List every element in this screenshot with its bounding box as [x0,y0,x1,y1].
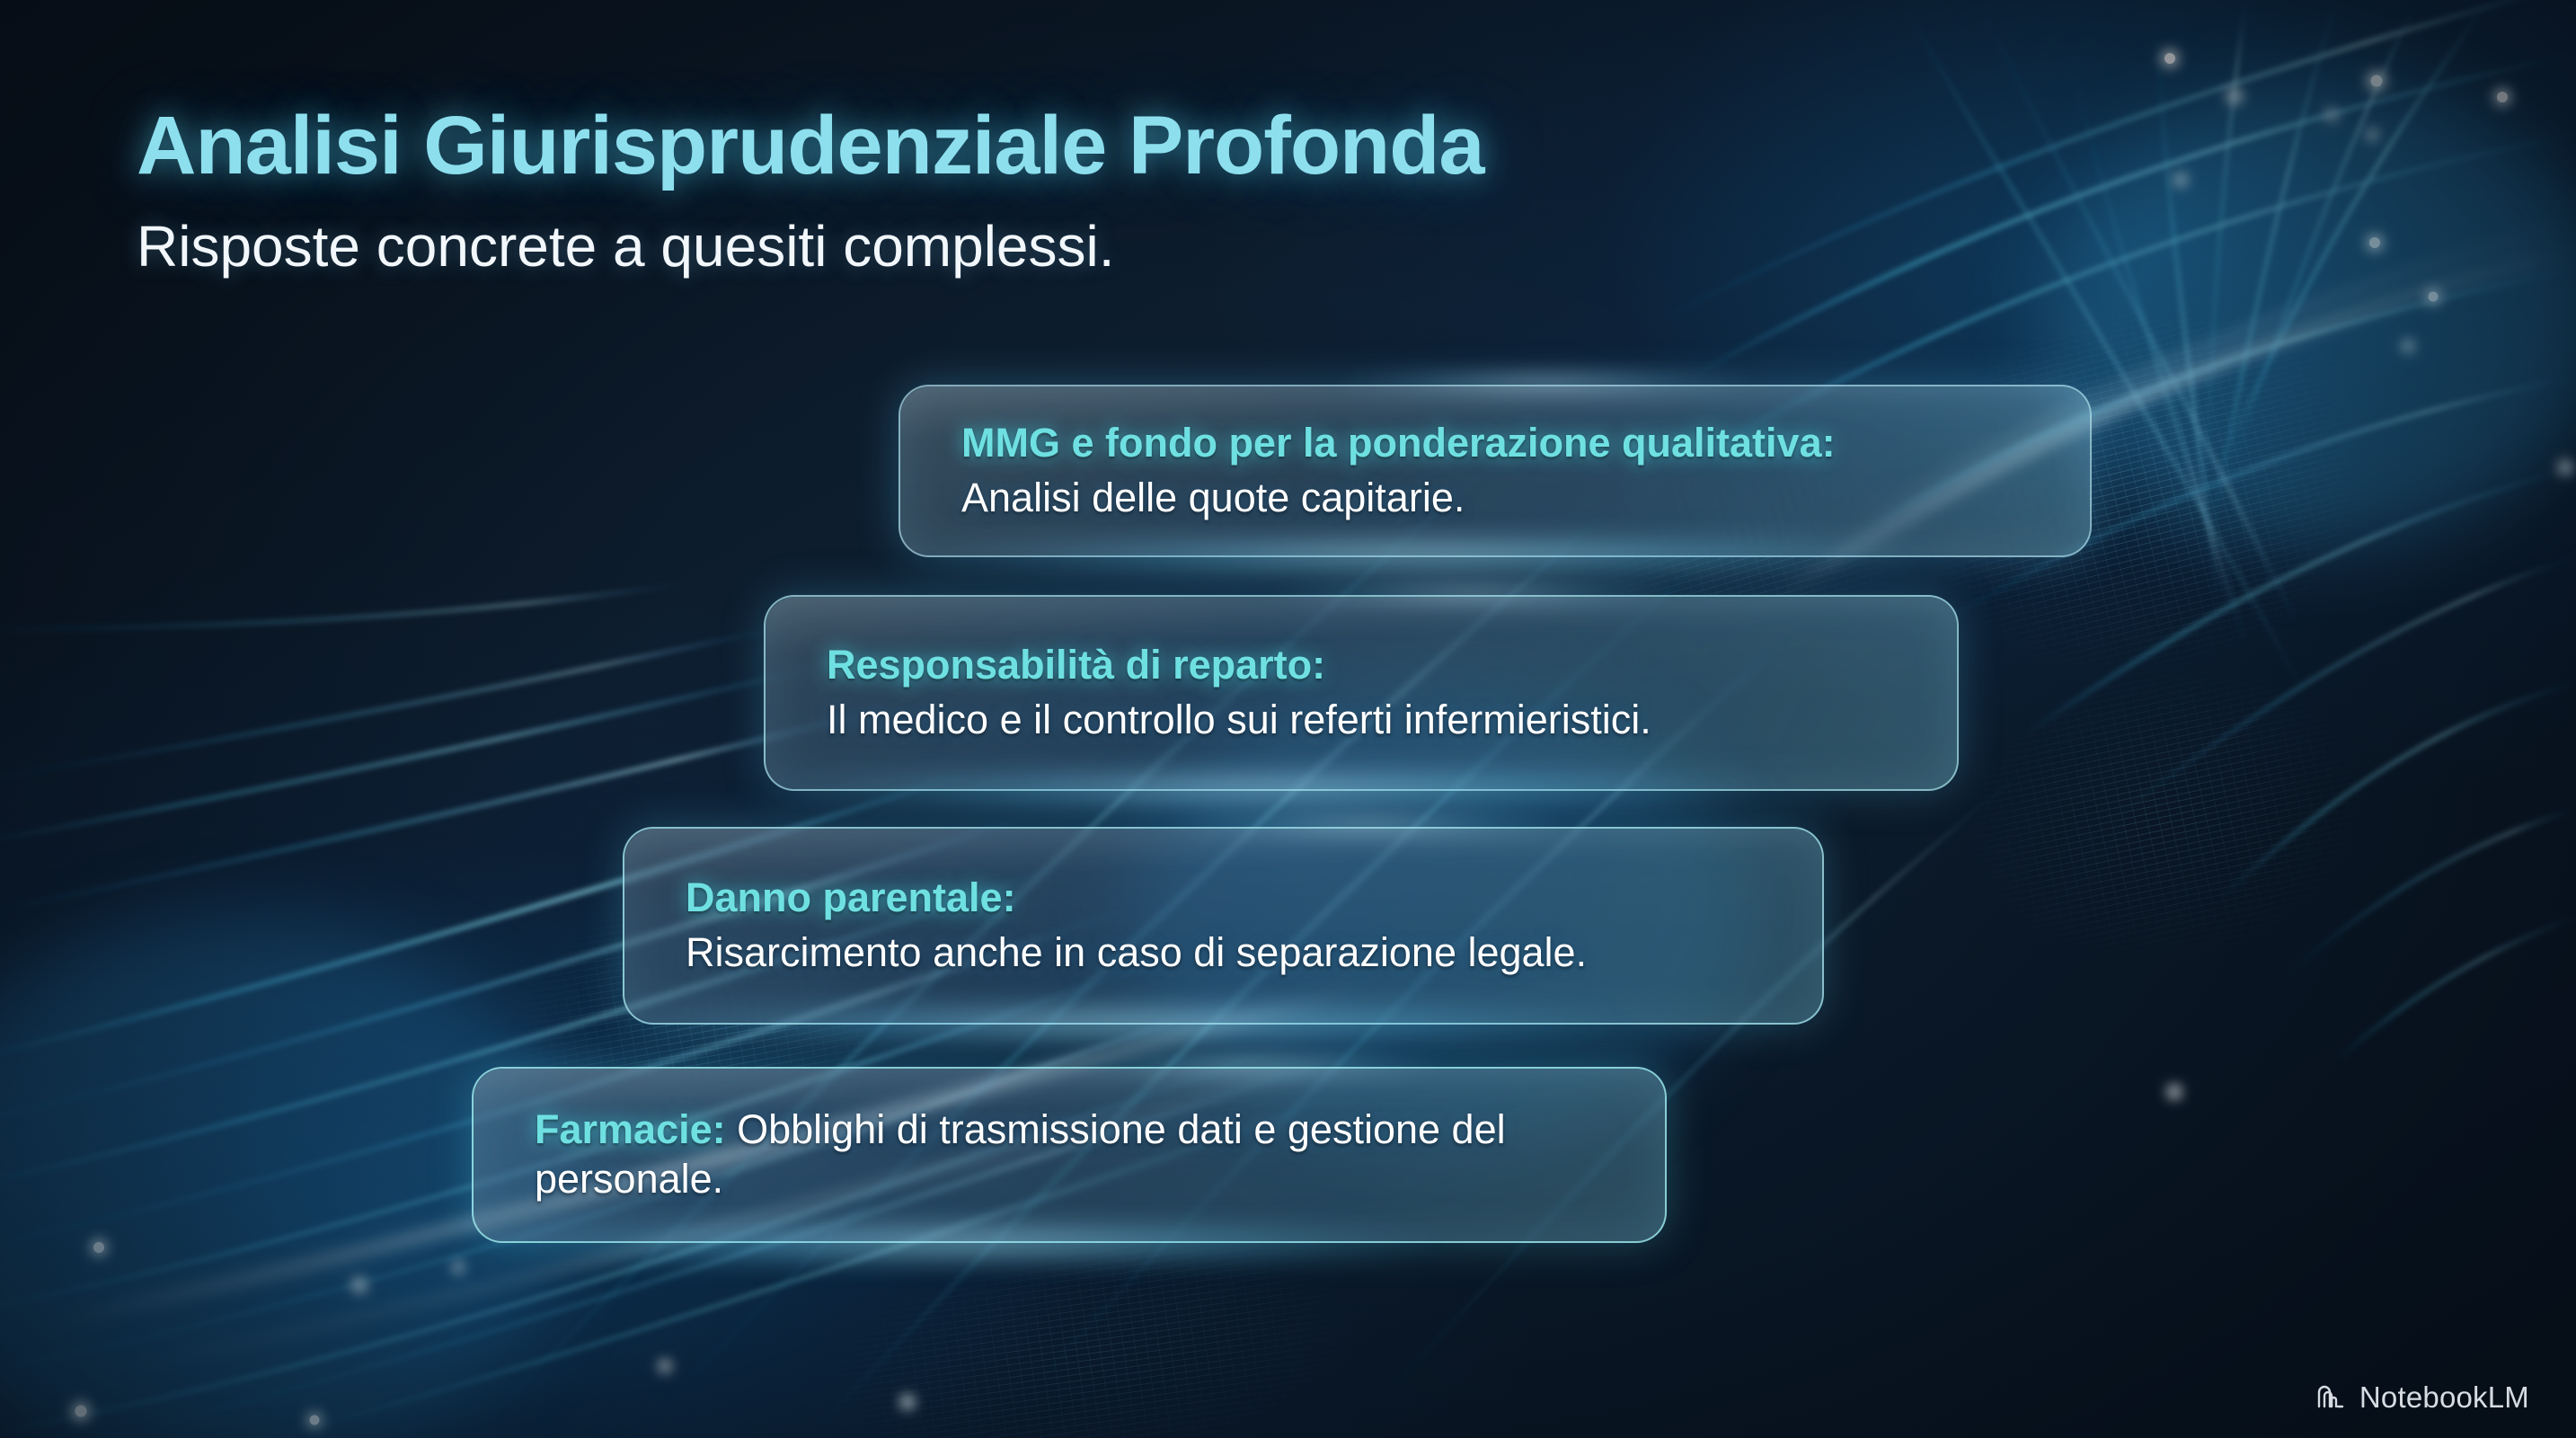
card-body: Analisi delle quote capitarie. [961,474,2090,523]
notebooklm-label: NotebookLM [2359,1380,2529,1415]
content-card-danno-parentale[interactable]: Danno parentale: Risarcimento anche in c… [623,827,1824,1025]
content-card-mmg[interactable]: MMG e fondo per la ponderazione qualitat… [899,385,2092,557]
card-body: Farmacie: Obblighi di trasmissione dati … [535,1105,1665,1204]
presentation-slide: Analisi Giurisprudenziale Profonda Rispo… [0,0,2576,1438]
content-card-farmacie[interactable]: Farmacie: Obblighi di trasmissione dati … [472,1067,1667,1243]
card-title: Responsabilità di reparto: [827,641,1957,688]
notebooklm-icon [2315,1384,2347,1411]
content-card-responsabilita[interactable]: Responsabilità di reparto: Il medico e i… [764,595,1959,791]
card-body: Risarcimento anche in caso di separazion… [686,928,1822,978]
card-title: Farmacie: [535,1106,726,1152]
page-title: Analisi Giurisprudenziale Profonda [137,99,1484,193]
slide-header: Analisi Giurisprudenziale Profonda Rispo… [137,99,1484,280]
card-body: Il medico e il controllo sui referti inf… [827,696,1957,745]
page-subtitle: Risposte concrete a quesiti complessi. [137,213,1484,280]
notebooklm-watermark: NotebookLM [2315,1380,2529,1415]
card-title: Danno parentale: [686,874,1822,921]
card-title: MMG e fondo per la ponderazione qualitat… [961,419,2090,466]
